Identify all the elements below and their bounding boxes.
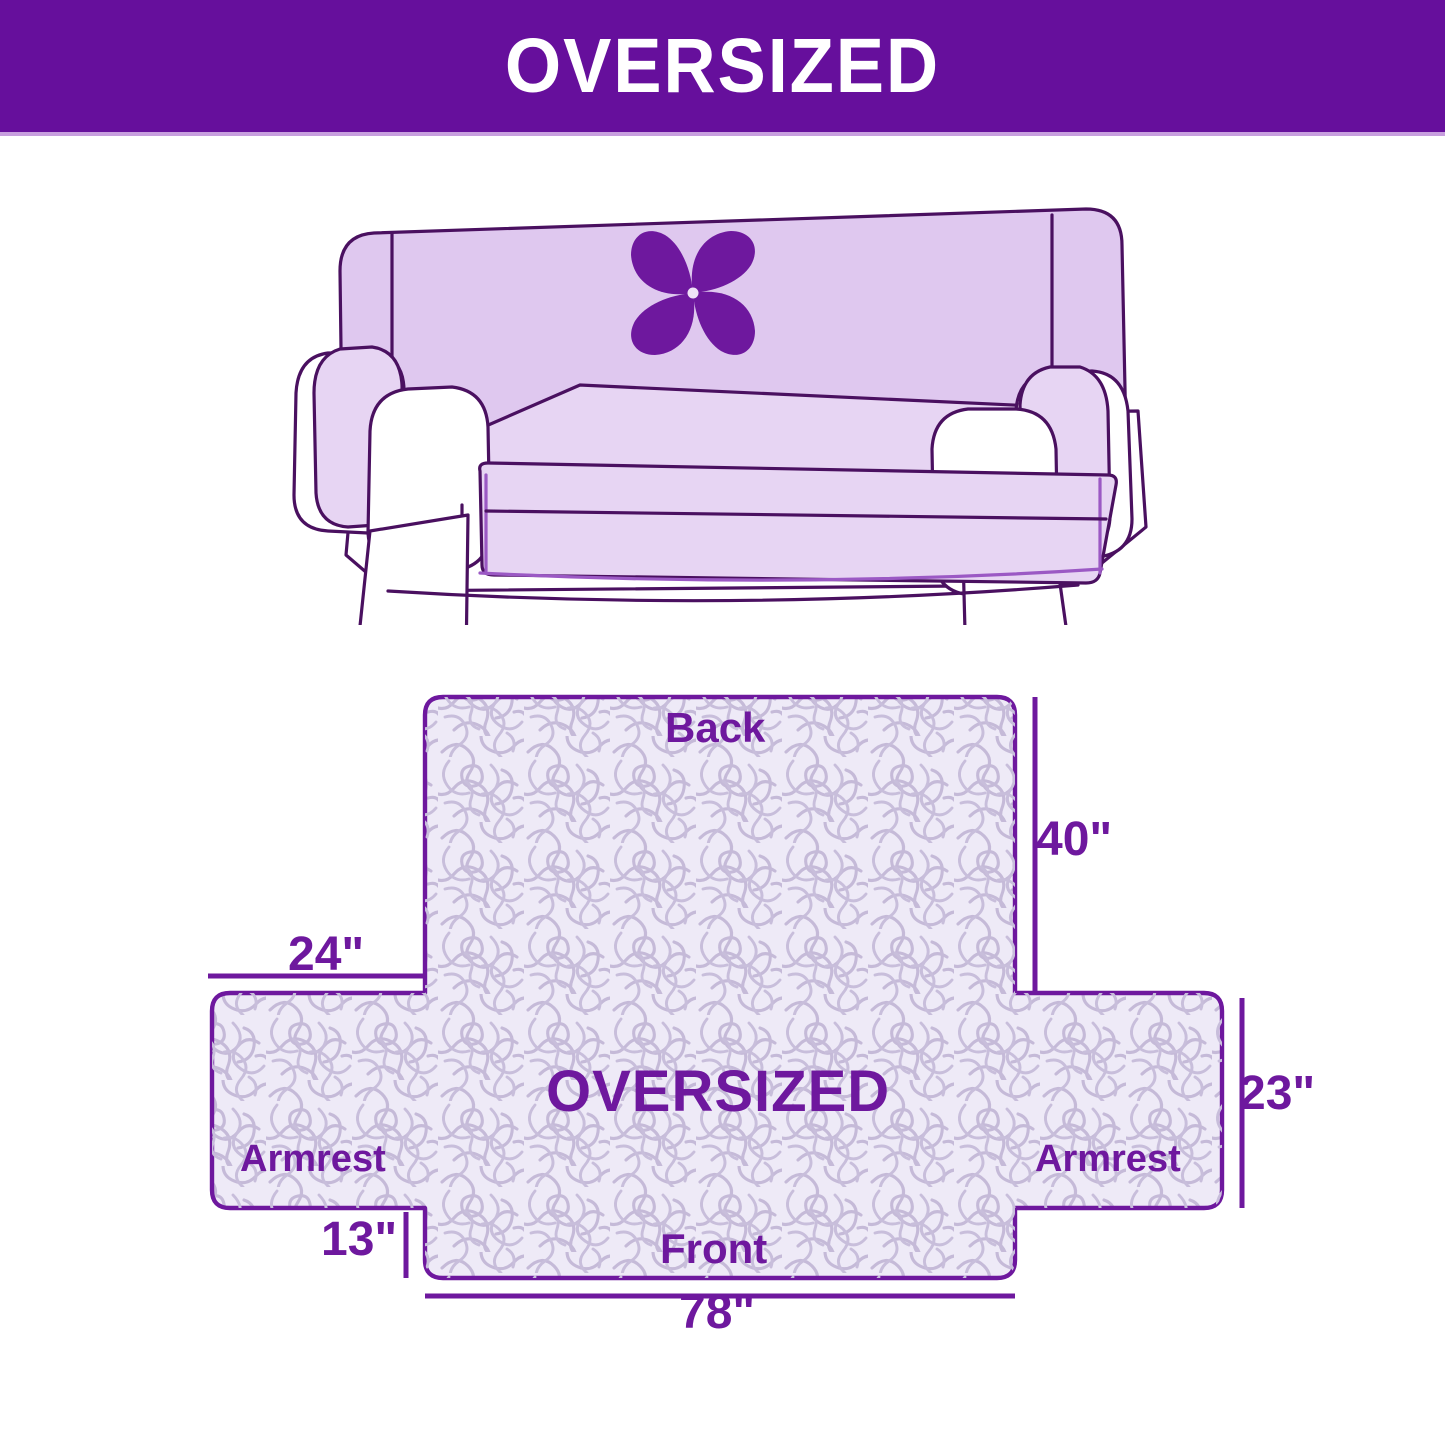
dimension-label-back-height: 40" — [1036, 816, 1112, 864]
panel-label-back: Back — [665, 707, 765, 749]
panel-label-armrest-left: Armrest — [240, 1140, 386, 1178]
dimension-label-armrest-length: 24" — [288, 931, 364, 979]
panel-label-front: Front — [660, 1228, 767, 1270]
product-size-diagram-page: OVERSIZED .olW{fill:#ffffff;stroke:#4a10… — [0, 0, 1445, 1445]
dimension-label-total-width: 78" — [679, 1289, 755, 1337]
cover-center-label: OVERSIZED — [546, 1063, 890, 1121]
header-banner: OVERSIZED — [0, 0, 1445, 132]
dimension-label-front-skirt: 13" — [321, 1216, 397, 1264]
dimension-label-armrest-depth: 23" — [1239, 1070, 1315, 1118]
cover-shape — [212, 697, 1222, 1278]
sofa-illustration: .olW{fill:#ffffff;stroke:#4a1060;stroke-… — [280, 175, 1180, 625]
banner-bottom-edge — [0, 132, 1445, 136]
panel-label-armrest-right: Armrest — [1035, 1140, 1181, 1178]
banner-title: OVERSIZED — [505, 28, 940, 105]
